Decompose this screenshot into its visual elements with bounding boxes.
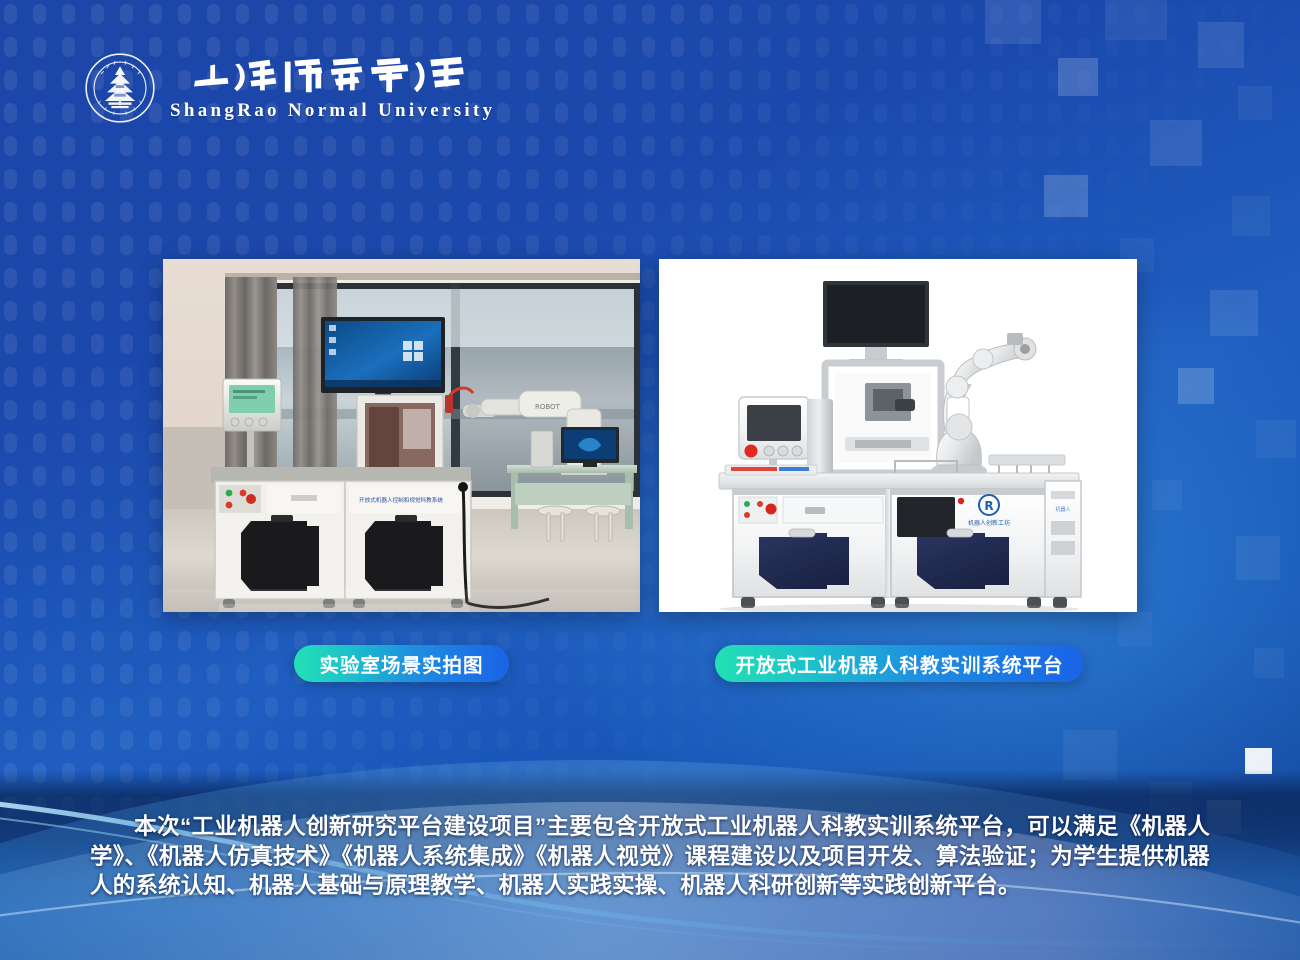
university-name-cn-calligraphy [170, 54, 495, 98]
svg-text:R: R [984, 499, 993, 513]
product-render-photograph[interactable]: R 机器人创新工坊 机器人 [659, 259, 1137, 612]
caption-product-photo[interactable]: 开放式工业机器人科教实训系统平台 [715, 645, 1084, 682]
svg-text:开放式机器人控制和视觉科教系统: 开放式机器人控制和视觉科教系统 [359, 496, 443, 504]
description-paragraph: 本次“工业机器人创新研究平台建设项目”主要包含开放式工业机器人科教实训系统平台，… [90, 812, 1210, 901]
university-name-en: ShangRao Normal University [170, 100, 495, 122]
slide-root: ShangRao Normal University [0, 0, 1300, 960]
svg-text:机器人创新工坊: 机器人创新工坊 [968, 519, 1010, 527]
caption-lab-photo[interactable]: 实验室场景实拍图 [294, 645, 509, 682]
svg-text:ROBOT: ROBOT [535, 403, 561, 411]
paragraph-text: 本次“工业机器人创新研究平台建设项目”主要包含开放式工业机器人科教实训系统平台，… [90, 814, 1210, 898]
university-logo: ShangRao Normal University [84, 52, 495, 124]
university-seal-icon [84, 52, 156, 124]
svg-text:机器人: 机器人 [1055, 506, 1070, 513]
laboratory-scene-photograph[interactable]: ROBOT [163, 259, 640, 612]
